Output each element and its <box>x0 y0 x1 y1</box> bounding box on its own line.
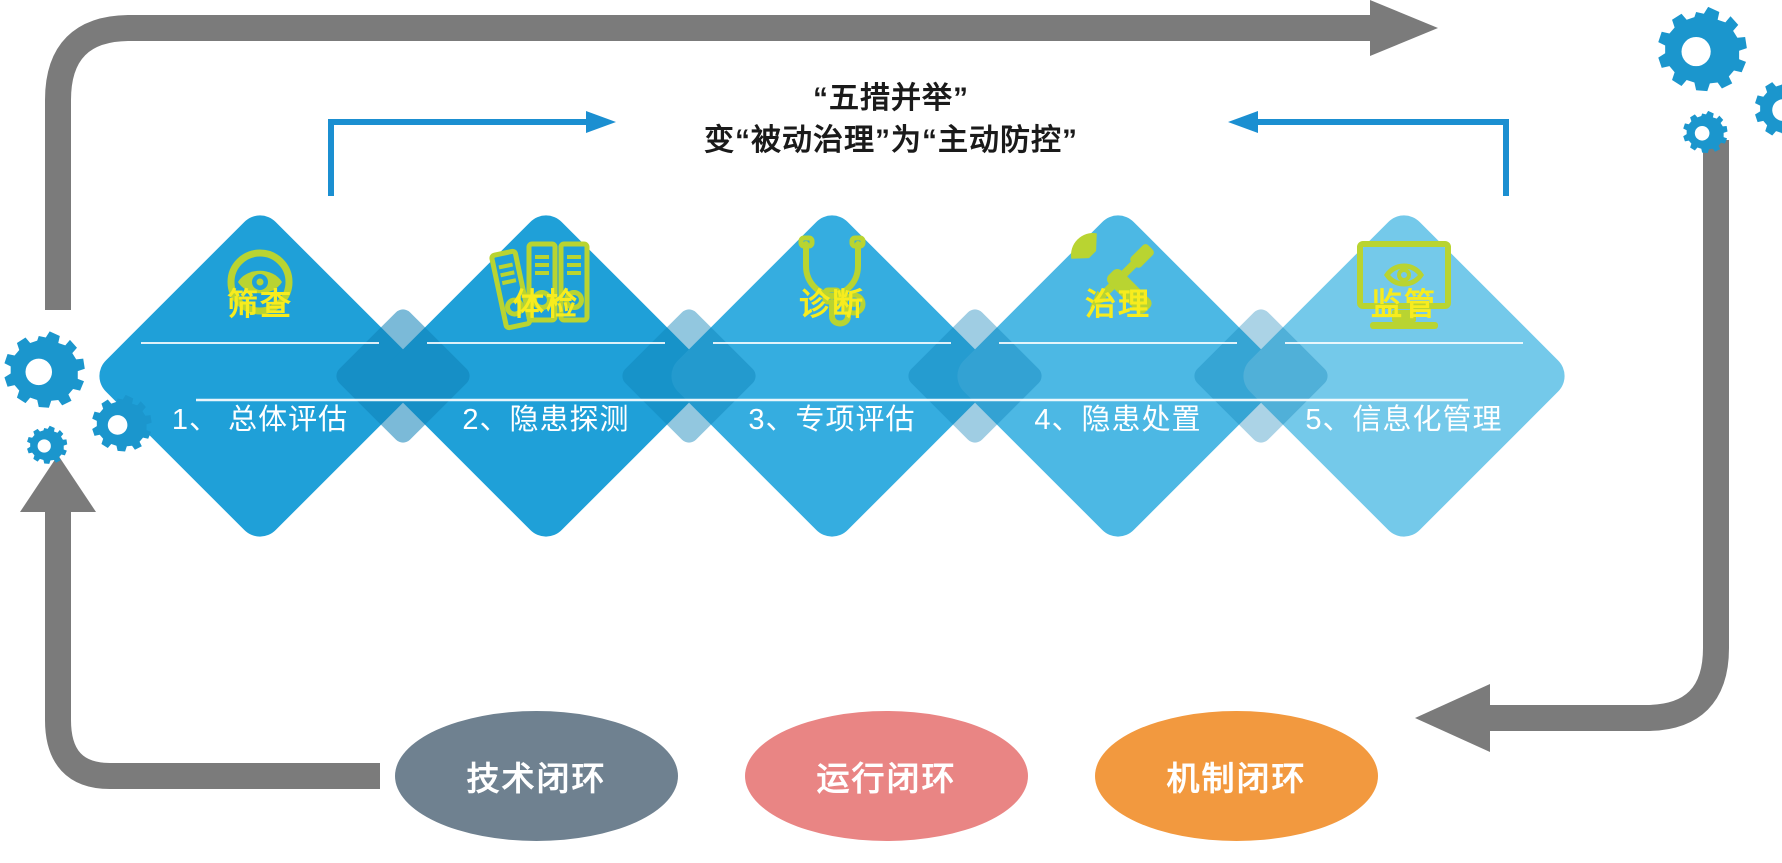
stage-title-2: 体检 <box>381 288 711 322</box>
stage-title-5: 监管 <box>1239 288 1569 322</box>
stage-title-1: 筛查 <box>95 288 425 322</box>
stage-rule-4 <box>999 342 1237 344</box>
gears-icon-top-right <box>1658 7 1782 153</box>
stage-rule-3 <box>713 342 951 344</box>
stage-card-1[interactable]: 筛查 1、 总体评估 <box>95 276 425 438</box>
loop-ellipse-operational[interactable]: 运行闭环 <box>745 711 1028 841</box>
stage-title-4: 治理 <box>953 288 1283 322</box>
gray-arrow-left-head <box>1415 684 1490 752</box>
loop-label-operational: 运行闭环 <box>817 752 957 800</box>
headline-line-2: 变“被动治理”为“主动防控” <box>541 120 1241 162</box>
stage-card-3[interactable]: 诊断 3、专项评估 <box>667 276 997 438</box>
stage-item-5: 5、信息化管理 <box>1239 396 1569 438</box>
stage-item-3: 3、专项评估 <box>667 396 997 438</box>
gray-loop-left-path <box>58 512 380 776</box>
stage-rule-1 <box>141 342 379 344</box>
stage-card-5[interactable]: 监管 5、信息化管理 <box>1239 276 1569 438</box>
loop-ellipse-technical[interactable]: 技术闭环 <box>395 711 678 841</box>
loop-label-technical: 技术闭环 <box>467 752 607 800</box>
stage-title-3: 诊断 <box>667 288 997 322</box>
headline-line-1: “五措并举” <box>541 78 1241 120</box>
stage-rule-5 <box>1285 342 1523 344</box>
stage-rule-2 <box>427 342 665 344</box>
stage-card-4[interactable]: 治理 4、隐患处置 <box>953 276 1283 438</box>
gray-arrow-up-head <box>20 455 96 512</box>
stage-item-2: 2、隐患探测 <box>381 396 711 438</box>
stage-item-1: 1、 总体评估 <box>95 396 425 438</box>
loop-ellipse-mechanism[interactable]: 机制闭环 <box>1095 711 1378 841</box>
stage-card-2[interactable]: 体检 2、隐患探测 <box>381 276 711 438</box>
gray-arrow-right-head <box>1370 0 1438 56</box>
loop-label-mechanism: 机制闭环 <box>1167 752 1307 800</box>
diagram-canvas: “五措并举” 变“被动治理”为“主动防控” 筛查 1、 总体评估 体检 2、隐患… <box>0 0 1782 863</box>
stage-item-4: 4、隐患处置 <box>953 396 1283 438</box>
blue-arrow-right-path <box>1256 122 1506 196</box>
headline: “五措并举” 变“被动治理”为“主动防控” <box>541 78 1241 162</box>
